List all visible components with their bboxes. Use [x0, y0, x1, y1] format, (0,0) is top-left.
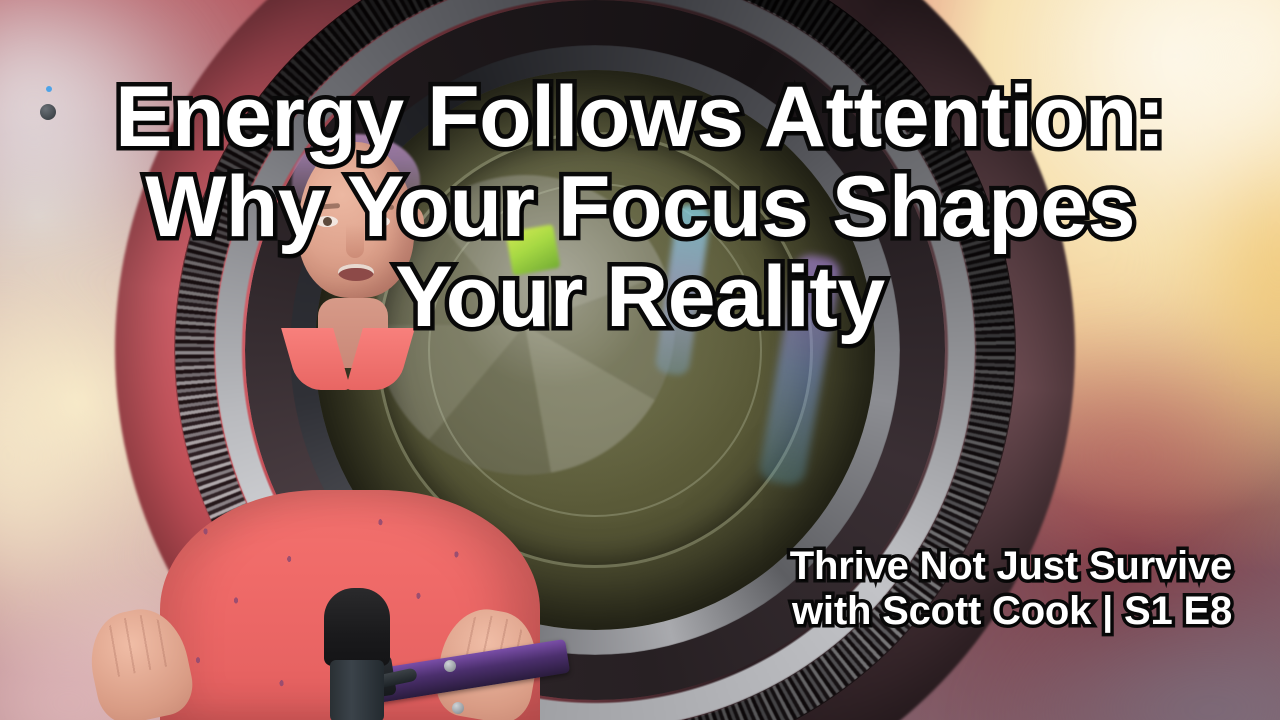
- presenter-ear-right: [408, 208, 424, 238]
- microphone-body: [330, 660, 384, 720]
- microphone-gain-knob: [40, 104, 56, 120]
- presenter-nose: [346, 224, 364, 258]
- microphone: [318, 588, 396, 720]
- video-thumbnail: Energy Follows Attention: Why Your Focus…: [0, 0, 1280, 720]
- microphone-led-indicator: [46, 86, 52, 92]
- presenter-eye-left: [316, 216, 338, 227]
- lens-dust-spot: [461, 229, 474, 242]
- boom-screw-upper: [444, 660, 456, 672]
- presenter-ear-left: [290, 208, 306, 238]
- lens-flare-green: [506, 224, 561, 276]
- presenter-eye-right: [368, 216, 390, 227]
- microphone-windscreen: [324, 588, 390, 666]
- boom-screw-lower: [452, 702, 464, 714]
- presenter-mouth: [338, 264, 374, 281]
